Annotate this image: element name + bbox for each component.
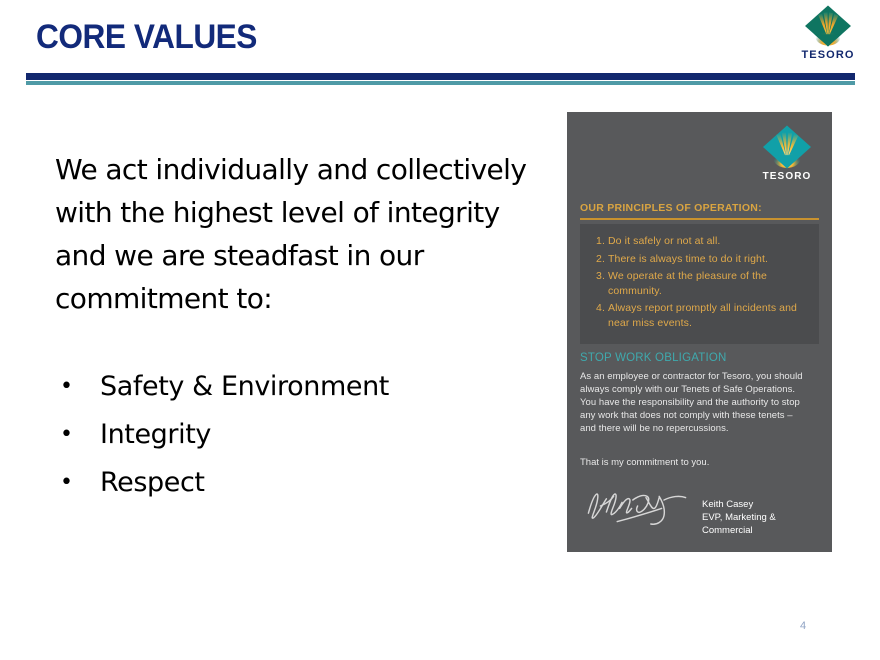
- title-divider: [26, 73, 855, 84]
- divider-bar-navy: [26, 73, 855, 80]
- principles-rule: [580, 218, 819, 220]
- principles-box: Do it safely or not at all. There is alw…: [580, 224, 819, 344]
- tesoro-diamond-icon: [803, 4, 853, 48]
- principles-list: Do it safely or not at all. There is alw…: [588, 234, 811, 330]
- list-item: Safety & Environment: [52, 363, 532, 411]
- page-number: 4: [800, 620, 806, 632]
- principles-heading: OUR PRINCIPLES OF OPERATION:: [580, 202, 762, 214]
- stop-work-body: As an employee or contractor for Tesoro,…: [580, 370, 805, 435]
- page-title: CORE VALUES: [36, 18, 257, 57]
- list-item: Always report promptly all incidents and…: [608, 301, 811, 330]
- list-item: There is always time to do it right.: [608, 252, 811, 267]
- list-item: Do it safely or not at all.: [608, 234, 811, 249]
- signer-title: EVP, Marketing & Commercial: [702, 511, 820, 537]
- list-item: Respect: [52, 459, 532, 507]
- stop-work-heading: STOP WORK OBLIGATION: [580, 352, 727, 364]
- signer-name: Keith Casey: [702, 498, 753, 511]
- poster-logo: TESORO: [756, 124, 818, 182]
- list-item: Integrity: [52, 411, 532, 459]
- poster-logo-wordmark: TESORO: [756, 171, 818, 182]
- body-paragraph: We act individually and collectively wit…: [55, 148, 555, 320]
- list-item: We operate at the pleasure of the commun…: [608, 269, 811, 298]
- divider-bar-teal: [26, 81, 855, 85]
- signature-block: Keith Casey EVP, Marketing & Commercial: [580, 490, 820, 540]
- signature-icon: [580, 482, 700, 530]
- commitment-line: That is my commitment to you.: [580, 457, 709, 468]
- header-logo: TESORO: [795, 4, 861, 66]
- values-list: Safety & Environment Integrity Respect: [52, 363, 532, 507]
- header-logo-wordmark: TESORO: [795, 49, 861, 61]
- principles-poster-image: TESORO OUR PRINCIPLES OF OPERATION: Do i…: [567, 112, 832, 552]
- tesoro-diamond-icon: [761, 124, 813, 170]
